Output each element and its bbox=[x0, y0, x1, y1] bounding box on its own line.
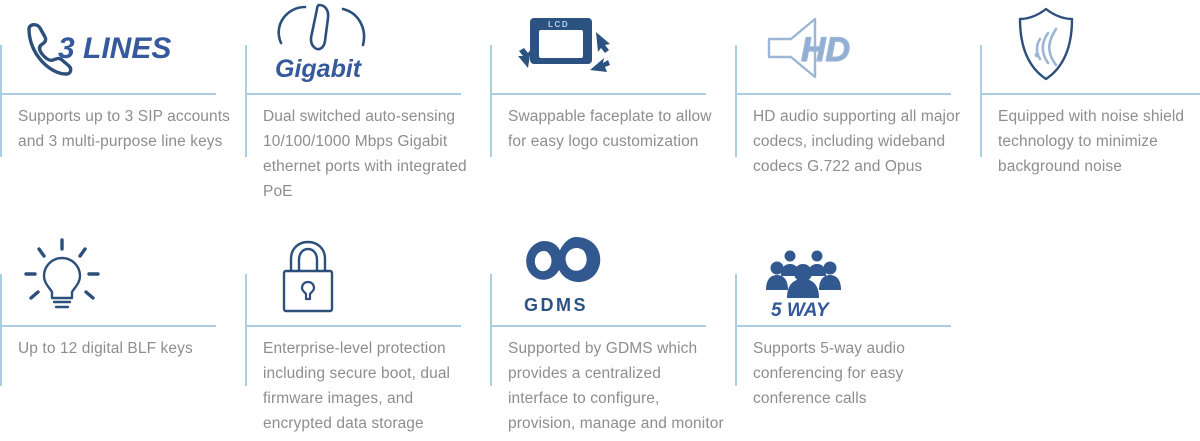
feature-description: Swappable faceplate to allow for easy lo… bbox=[508, 104, 724, 154]
badge-label-gdms: GDMS bbox=[524, 295, 588, 315]
people-group-5-way-icon: 5 WAY bbox=[759, 238, 863, 322]
lightbulb-idea-icon bbox=[20, 234, 104, 318]
feature-card-hd-audio: HD HD audio supporting all major codecs,… bbox=[735, 0, 980, 215]
divider-horizontal bbox=[980, 93, 1200, 95]
feature-card-noise-shield: Equipped with noise shield technology to… bbox=[980, 0, 1200, 215]
feature-grid: 3 LINES Supports up to 3 SIP accounts an… bbox=[0, 0, 1200, 441]
divider-vertical bbox=[735, 45, 737, 157]
feature-card-enterprise-security: Enterprise-level protection including se… bbox=[245, 232, 490, 441]
divider-vertical bbox=[490, 45, 492, 157]
divider-vertical bbox=[245, 274, 247, 386]
feature-description: Supports up to 3 SIP accounts and 3 mult… bbox=[18, 104, 234, 154]
hd-speaker-icon: HD bbox=[757, 8, 867, 92]
badge-label-lcd: LCD bbox=[548, 20, 569, 29]
feature-card-gdms: GDMS Supported by GDMS which provides a … bbox=[490, 232, 735, 441]
divider-horizontal bbox=[735, 93, 951, 95]
divider-horizontal bbox=[735, 325, 951, 327]
divider-horizontal bbox=[0, 93, 216, 95]
feature-card-three-lines: 3 LINES Supports up to 3 SIP accounts an… bbox=[0, 0, 245, 215]
shield-noise-waves-icon bbox=[1010, 2, 1086, 86]
divider-vertical bbox=[490, 274, 492, 386]
feature-description: Up to 12 digital BLF keys bbox=[18, 336, 234, 361]
feature-description: Dual switched auto-sensing 10/100/1000 M… bbox=[263, 104, 479, 204]
badge-label-three-lines: 3 LINES bbox=[58, 32, 171, 65]
feature-description: Supported by GDMS which provides a centr… bbox=[508, 336, 724, 436]
divider-vertical bbox=[0, 274, 2, 386]
divider-horizontal bbox=[245, 93, 461, 95]
feature-description: Supports 5-way audio conferencing for ea… bbox=[753, 336, 969, 411]
feature-description: Enterprise-level protection including se… bbox=[263, 336, 479, 436]
divider-vertical bbox=[0, 45, 2, 157]
feature-description: Equipped with noise shield technology to… bbox=[998, 104, 1198, 179]
feature-card-five-way-conference: 5 WAY Supports 5-way audio conferencing … bbox=[735, 232, 980, 441]
divider-vertical bbox=[245, 45, 247, 157]
divider-horizontal bbox=[0, 325, 216, 327]
lcd-faceplate-swap-icon: LCD bbox=[512, 6, 622, 90]
badge-label-hd: HD bbox=[801, 31, 850, 69]
padlock-icon bbox=[271, 236, 347, 320]
divider-horizontal bbox=[245, 325, 461, 327]
divider-vertical bbox=[735, 274, 737, 386]
feature-description: HD audio supporting all major codecs, in… bbox=[753, 104, 969, 179]
gigabit-speed-icon: Gigabit bbox=[267, 0, 397, 84]
badge-label-gigabit: Gigabit bbox=[275, 55, 363, 83]
divider-horizontal bbox=[490, 325, 706, 327]
divider-vertical bbox=[980, 45, 982, 157]
feature-card-blf-keys: Up to 12 digital BLF keys bbox=[0, 232, 245, 441]
feature-card-swappable-faceplate: LCD Swappable faceplate to allow for eas… bbox=[490, 0, 735, 215]
phone-handset-3-lines-icon: 3 LINES bbox=[16, 4, 166, 88]
badge-label-five-way: 5 WAY bbox=[771, 300, 831, 321]
gdms-cloud-rings-icon: GDMS bbox=[514, 232, 620, 316]
divider-horizontal bbox=[490, 93, 706, 95]
feature-card-gigabit: Gigabit Dual switched auto-sensing 10/10… bbox=[245, 0, 490, 215]
